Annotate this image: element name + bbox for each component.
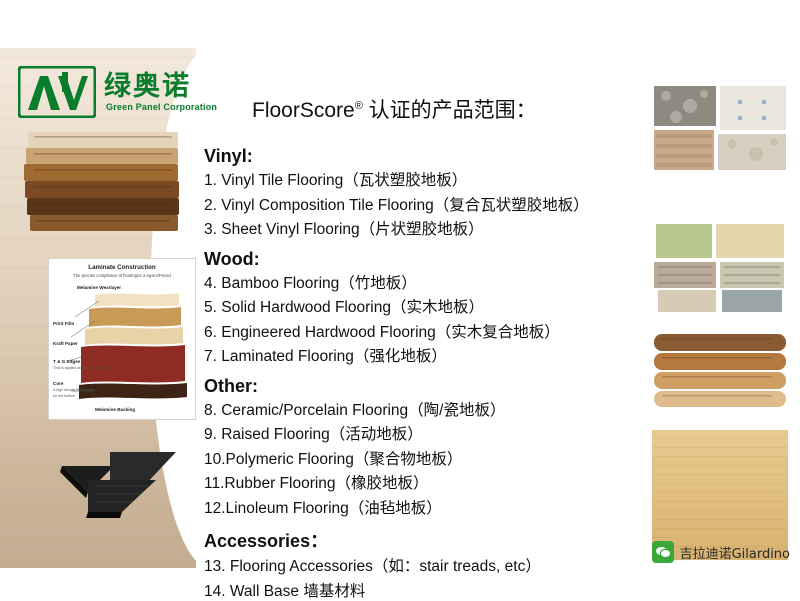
title-before: FloorScore xyxy=(252,99,355,122)
list-item: 7. Laminated Flooring（强化地板） xyxy=(204,345,624,370)
list-item: 4. Bamboo Flooring（竹地板） xyxy=(204,272,624,297)
company-logo: 绿奥诺 Green Panel Corporation xyxy=(18,64,218,128)
vinyl-tile-samples-photo xyxy=(652,84,788,172)
title-after: 认证的产品范围： xyxy=(363,99,537,122)
green-panel-logo-icon xyxy=(18,66,96,118)
wechat-account-name: 吉拉迪诺Gilardino xyxy=(680,543,790,562)
diagram-subtitle: The precise compliance of flooring/or a … xyxy=(49,273,195,278)
list-item: 14. Wall Base 墙基材料 xyxy=(204,580,624,601)
list-item: 8. Ceramic/Porcelain Flooring（陶/瓷地板） xyxy=(204,399,624,424)
diagram-label: Kraft Paper xyxy=(53,341,78,346)
product-scope-list: Vinyl: 1. Vinyl Tile Flooring（瓦状塑胶地板） 2.… xyxy=(204,140,624,601)
diagram-label: for the bottom xyxy=(53,394,75,398)
wechat-account-badge[interactable]: 吉拉迪诺Gilardino xyxy=(652,539,790,565)
list-item: 9. Raised Flooring（活动地板） xyxy=(204,423,624,448)
black-tile-samples-photo xyxy=(52,432,202,520)
section-heading-wood: Wood: xyxy=(204,249,624,270)
diagram-title: Laminate Construction xyxy=(49,264,195,271)
diagram-label: That is applied along all the edges xyxy=(53,366,108,370)
section-heading-other: Other: xyxy=(204,376,624,397)
list-item: 5. Solid Hardwood Flooring（实木地板） xyxy=(204,296,624,321)
laminate-construction-diagram: Laminate Construction The precise compli… xyxy=(48,258,196,420)
list-item: 13. Flooring Accessories（如：stair treads,… xyxy=(204,555,624,580)
wood-roll-samples-photo xyxy=(652,330,788,410)
diagram-label: A high density fiber board xyxy=(53,388,94,392)
section-heading-vinyl: Vinyl: xyxy=(204,146,624,167)
list-item: 11.Rubber Flooring（橡胶地板） xyxy=(204,472,624,497)
logo-chinese-name: 绿奥诺 xyxy=(104,64,191,103)
list-item: 1. Vinyl Tile Flooring（瓦状塑胶地板） xyxy=(204,169,624,194)
slide-canvas: 绿奥诺 Green Panel Corporation FloorScore® … xyxy=(0,0,800,601)
diagram-label: Print Film xyxy=(53,321,74,326)
registered-mark-icon: ® xyxy=(355,100,363,112)
logo-english-name: Green Panel Corporation xyxy=(106,102,217,112)
section-heading-accessories: Accessories： xyxy=(204,527,624,553)
page-title: FloorScore® 认证的产品范围： xyxy=(252,94,537,124)
vinyl-sheet-samples-photo xyxy=(652,222,788,314)
list-item: 3. Sheet Vinyl Flooring（片状塑胶地板） xyxy=(204,218,624,243)
diagram-label: Melamine Backing xyxy=(95,407,135,412)
diagram-label: Core xyxy=(53,381,63,386)
wood-plank-stack-photo xyxy=(22,128,188,240)
list-item: 6. Engineered Hardwood Flooring（实木复合地板） xyxy=(204,321,624,346)
diagram-label: T & G Edges xyxy=(53,359,80,364)
diagram-label: Melamine Wearlayer xyxy=(77,285,121,290)
wechat-icon xyxy=(652,541,674,563)
top-white-strip xyxy=(0,0,800,48)
list-item: 10.Polymeric Flooring（聚合物地板） xyxy=(204,448,624,473)
list-item: 12.Linoleum Flooring（油毡地板） xyxy=(204,497,624,522)
list-item: 2. Vinyl Composition Tile Flooring（复合瓦状塑… xyxy=(204,194,624,219)
